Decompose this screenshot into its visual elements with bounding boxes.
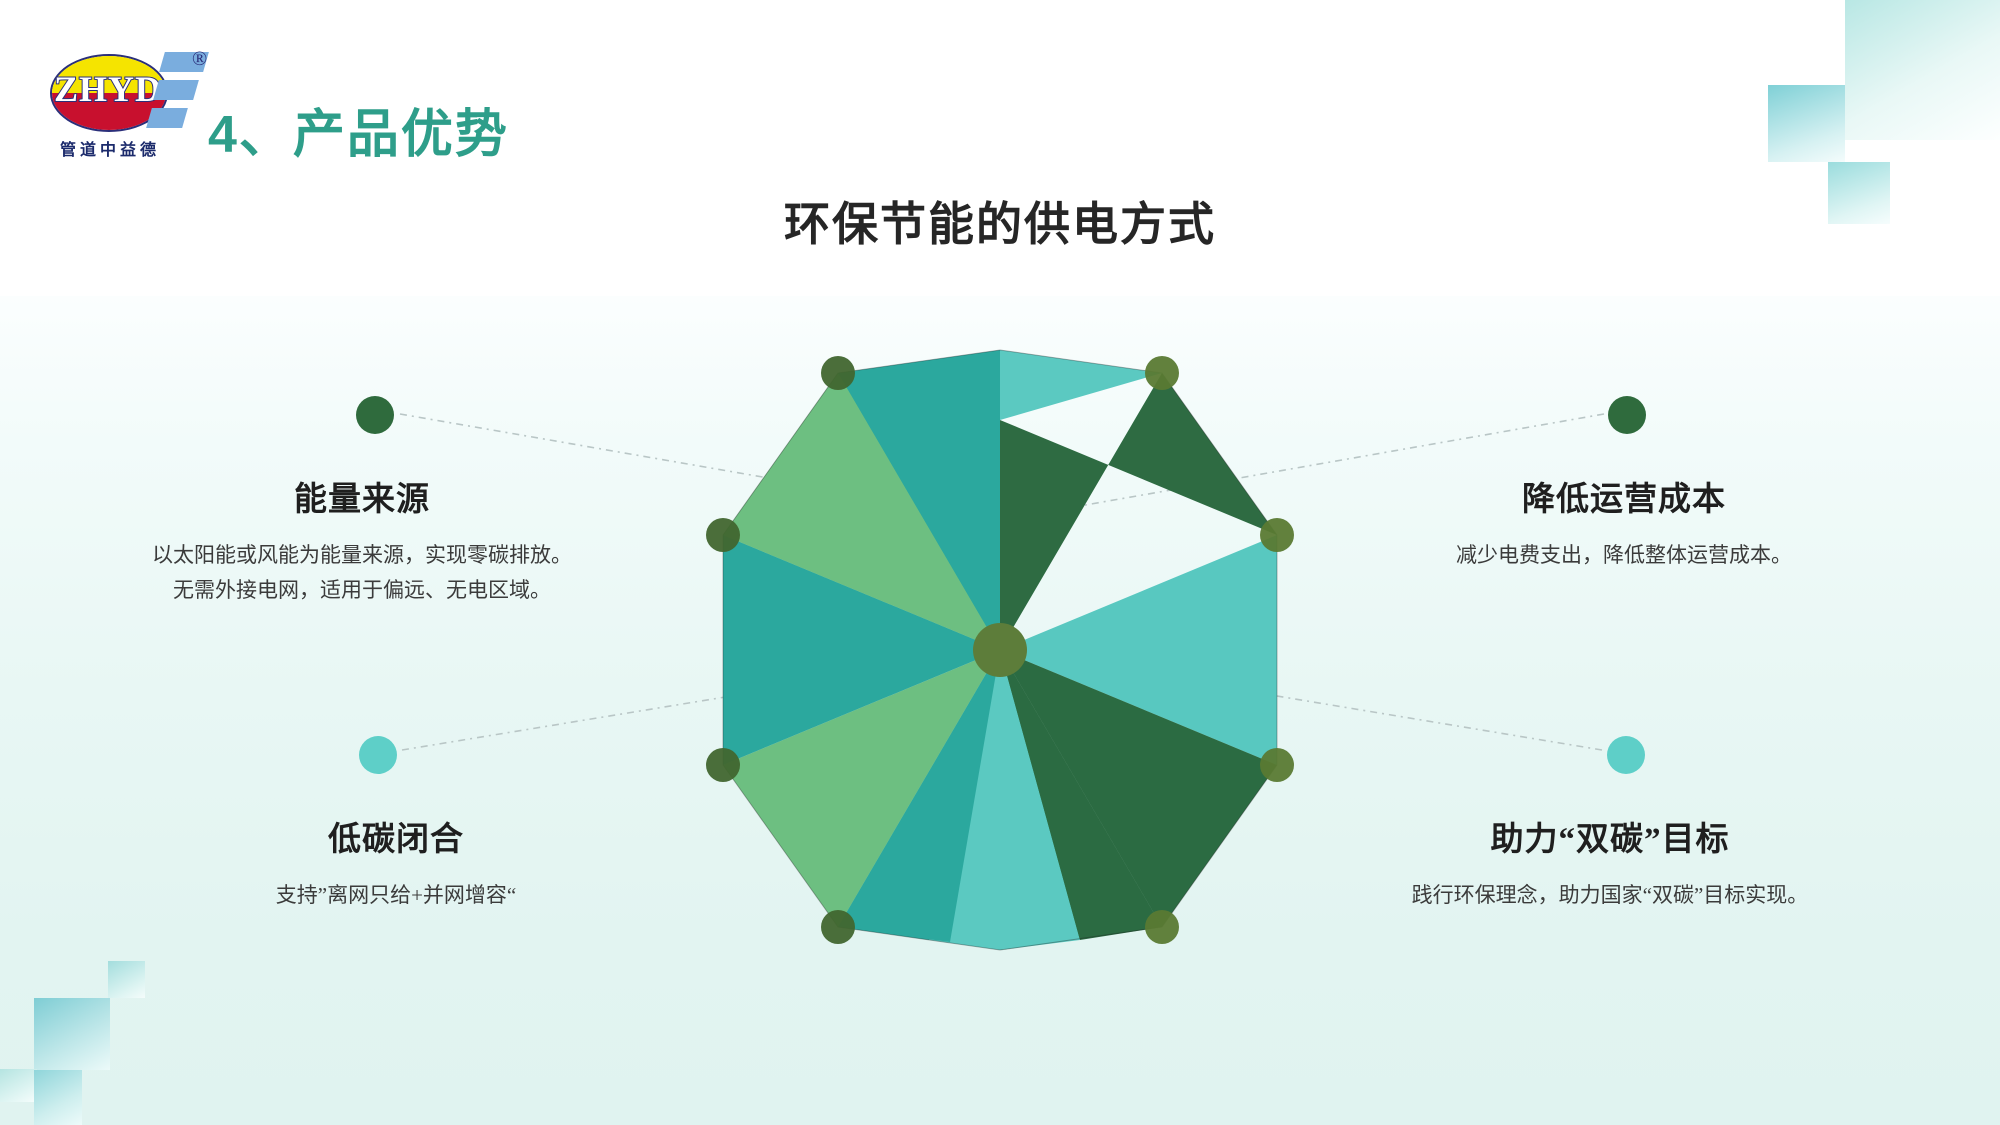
registered-trademark-icon: ® [192,48,207,71]
umbrella-diagram[interactable] [650,300,1350,1000]
section-title: 4、产品优势 [208,92,509,167]
connector-dot-energy-source[interactable] [356,396,394,434]
company-logo: ZHYD ® 管道中益德 [44,44,204,154]
callout-body-operating-cost: 减少电费支出，降低整体运营成本。 [1414,538,1834,573]
slide-canvas: ZHYD ® 管道中益德 4、产品优势 环保节能的供电方式 [0,0,2000,1125]
callout-body-dual-carbon-goal: 践行环保理念，助力国家“双碳”目标实现。 [1400,878,1820,913]
callout-body-low-carbon-loop: 支持”离网只给+并网增容“ [186,878,606,913]
rib-node-top-left [821,356,855,390]
callout-title-low-carbon-loop: 低碳闭合 [186,812,606,860]
callout-title-energy-source: 能量来源 [152,472,572,520]
decor-square-bottom-left-large [34,998,110,1070]
connector-dot-operating-cost[interactable] [1608,396,1646,434]
rib-node-left-lower [706,748,740,782]
rib-node-right-upper [1260,518,1294,552]
callout-body-energy-source: 以太阳能或风能为能量来源，实现零碳排放。无需外接电网，适用于偏远、无电区域。 [152,538,572,607]
decor-square-bottom-left-edge [0,1069,37,1102]
rib-node-bottom-left [821,910,855,944]
page-title: 环保节能的供电方式 [0,188,2000,254]
callout-title-dual-carbon-goal: 助力“双碳”目标 [1400,812,1820,860]
umbrella-svg [650,300,1350,1000]
rib-node-top-right [1145,356,1179,390]
logo-bar-2 [153,80,199,100]
connector-dot-dual-carbon[interactable] [1607,736,1645,774]
callout-dual-carbon-goal: 助力“双碳”目标 践行环保理念，助力国家“双碳”目标实现。 [1400,812,1820,913]
callout-operating-cost: 降低运营成本 减少电费支出，降低整体运营成本。 [1414,472,1834,573]
connector-dot-low-carbon[interactable] [359,736,397,774]
umbrella-hub [973,623,1027,677]
decor-square-bottom-left-top [108,961,145,998]
logo-subtitle: 管道中益德 [44,136,176,160]
callout-title-operating-cost: 降低运营成本 [1414,472,1834,520]
slide-header: ZHYD ® 管道中益德 4、产品优势 [0,0,2000,200]
logo-bar-3 [146,108,188,128]
callout-low-carbon-loop: 低碳闭合 支持”离网只给+并网增容“ [186,812,606,913]
rib-node-right-lower [1260,748,1294,782]
callout-energy-source: 能量来源 以太阳能或风能为能量来源，实现零碳排放。无需外接电网，适用于偏远、无电… [152,472,572,607]
rib-node-bottom-right [1145,910,1179,944]
decor-square-bottom-left-low [34,1070,82,1125]
rib-node-left-upper [706,518,740,552]
